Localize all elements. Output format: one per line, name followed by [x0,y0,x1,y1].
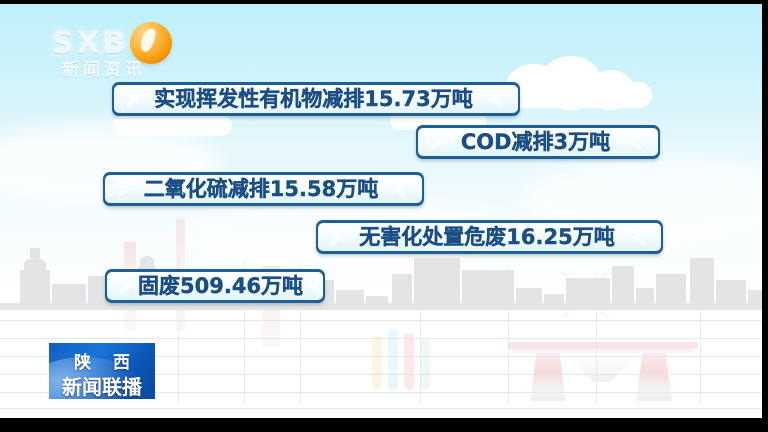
statistics-banner: 二氧化硫减排15.58万吨 [103,172,424,206]
statistics-banner: 固废509.46万吨 [105,269,325,303]
banner-text: 固废509.46万吨 [138,276,303,297]
bridge-illustration [508,342,698,404]
chevron-right-icon [118,180,131,198]
channel-logo: SXBC 新闻资讯 [52,22,192,78]
letterbox-bar-right [762,0,768,432]
tank-illustration [372,336,382,390]
chevron-left-icon [392,180,405,198]
banner-text: 二氧化硫减排15.58万吨 [136,179,386,200]
program-badge-line2: 新闻联播 [49,371,155,399]
letterbox-bar-bottom [0,418,768,432]
program-badge: 陕 西 新闻联播 [49,343,155,399]
chevron-right-icon [127,90,140,108]
video-frame: SXBC 新闻资讯 实现挥发性有机物减排15.73万吨COD减排3万吨二氧化硫减… [0,4,762,418]
letterbox-bar-top [0,0,768,4]
program-badge-line1: 陕 西 [49,348,155,373]
banner-text: COD减排3万吨 [449,132,622,153]
statistics-banner: 实现挥发性有机物减排15.73万吨 [112,82,520,116]
banner-text: 无害化处置危废16.25万吨 [349,227,625,248]
banner-inner: 固废509.46万吨 [107,272,323,300]
statistics-banner: COD减排3万吨 [416,125,660,159]
banner-text: 实现挥发性有机物减排15.73万吨 [145,89,482,110]
chevron-left-icon [631,228,644,246]
chevron-right-icon [331,228,344,246]
statistics-banner: 无害化处置危废16.25万吨 [316,220,663,254]
chevron-left-icon [628,133,641,151]
channel-logo-subtitle: 新闻资讯 [62,55,146,80]
chevron-left-icon [309,277,322,295]
broadcast-screenshot: SXBC 新闻资讯 实现挥发性有机物减排15.73万吨COD减排3万吨二氧化硫减… [0,0,768,432]
blueprint-line [0,408,762,409]
tank-illustration [388,330,398,390]
banner-inner: 无害化处置危废16.25万吨 [318,223,661,251]
chevron-left-icon [488,90,501,108]
banner-inner: 二氧化硫减排15.58万吨 [105,175,422,203]
chevron-right-icon [120,277,133,295]
tank-illustration [420,340,430,390]
blueprint-line [0,320,762,321]
banner-inner: COD减排3万吨 [418,128,658,156]
banner-inner: 实现挥发性有机物减排15.73万吨 [114,85,518,113]
chevron-right-icon [431,133,444,151]
tank-illustration [404,334,414,390]
blueprint-line [0,338,762,339]
